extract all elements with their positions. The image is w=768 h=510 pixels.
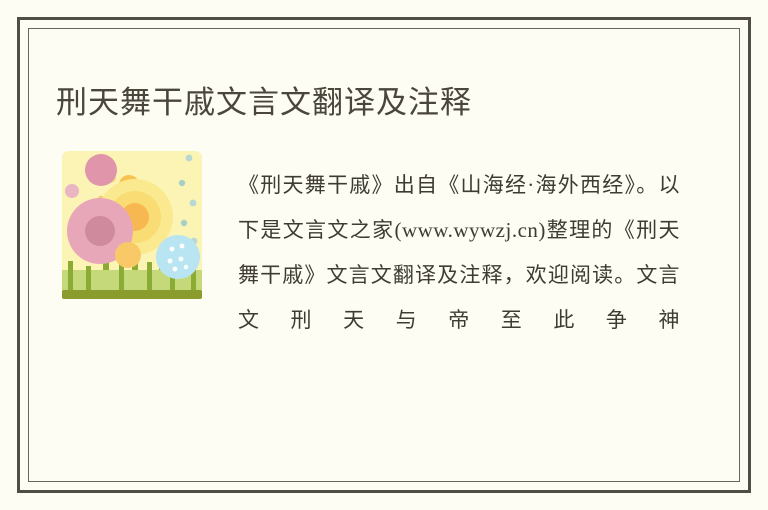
article-body: 《刑天舞干戚》出自《山海经·海外西经》。以下是文言文之家(www.wywzj.c… — [238, 163, 680, 343]
article-page: 刑天舞干戚文言文翻译及注释 — [0, 0, 768, 510]
page-title: 刑天舞干戚文言文翻译及注释 — [56, 83, 472, 123]
flower-field-illustration — [58, 145, 206, 305]
article-thumbnail[interactable] — [58, 145, 206, 305]
